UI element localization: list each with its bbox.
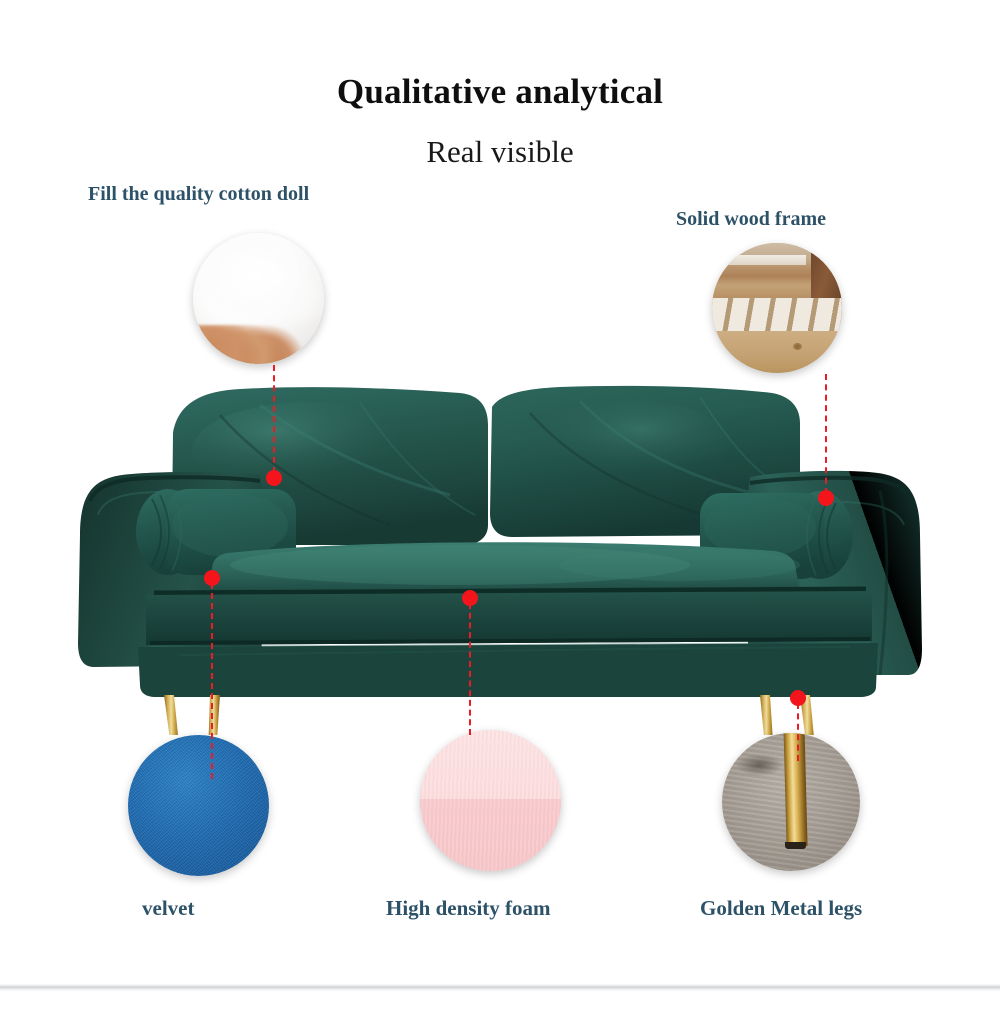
swatch-wood-frame <box>712 243 842 373</box>
connector-line-foam <box>469 603 471 735</box>
marker-dot-foam[interactable] <box>462 590 478 606</box>
feature-label-cotton: Fill the quality cotton doll <box>88 183 309 206</box>
feature-label-legs: Golden Metal legs <box>700 896 862 921</box>
feature-label-foam: High density foam <box>386 896 551 921</box>
page-subtitle: Real visible <box>0 134 1000 170</box>
marker-dot-legs[interactable] <box>790 690 806 706</box>
swatch-velvet <box>128 735 269 876</box>
feature-label-wood: Solid wood frame <box>676 208 826 231</box>
swatch-golden-legs <box>722 733 860 871</box>
infographic-canvas: Qualitative analytical Real visible <box>0 0 1000 1019</box>
bottom-divider <box>0 984 1000 992</box>
marker-dot-cotton[interactable] <box>266 470 282 486</box>
swatch-cotton-fill <box>193 233 324 364</box>
sofa-illustration <box>60 375 940 735</box>
marker-dot-wood[interactable] <box>818 490 834 506</box>
marker-dot-velvet[interactable] <box>204 570 220 586</box>
connector-line-velvet <box>211 583 213 779</box>
feature-label-velvet: velvet <box>142 896 194 921</box>
swatch-foam <box>420 730 561 871</box>
page-title: Qualitative analytical <box>0 72 1000 112</box>
connector-line-wood <box>825 374 827 494</box>
sofa-legs <box>164 695 816 735</box>
connector-line-legs <box>797 703 799 761</box>
connector-line-cotton <box>273 365 275 473</box>
